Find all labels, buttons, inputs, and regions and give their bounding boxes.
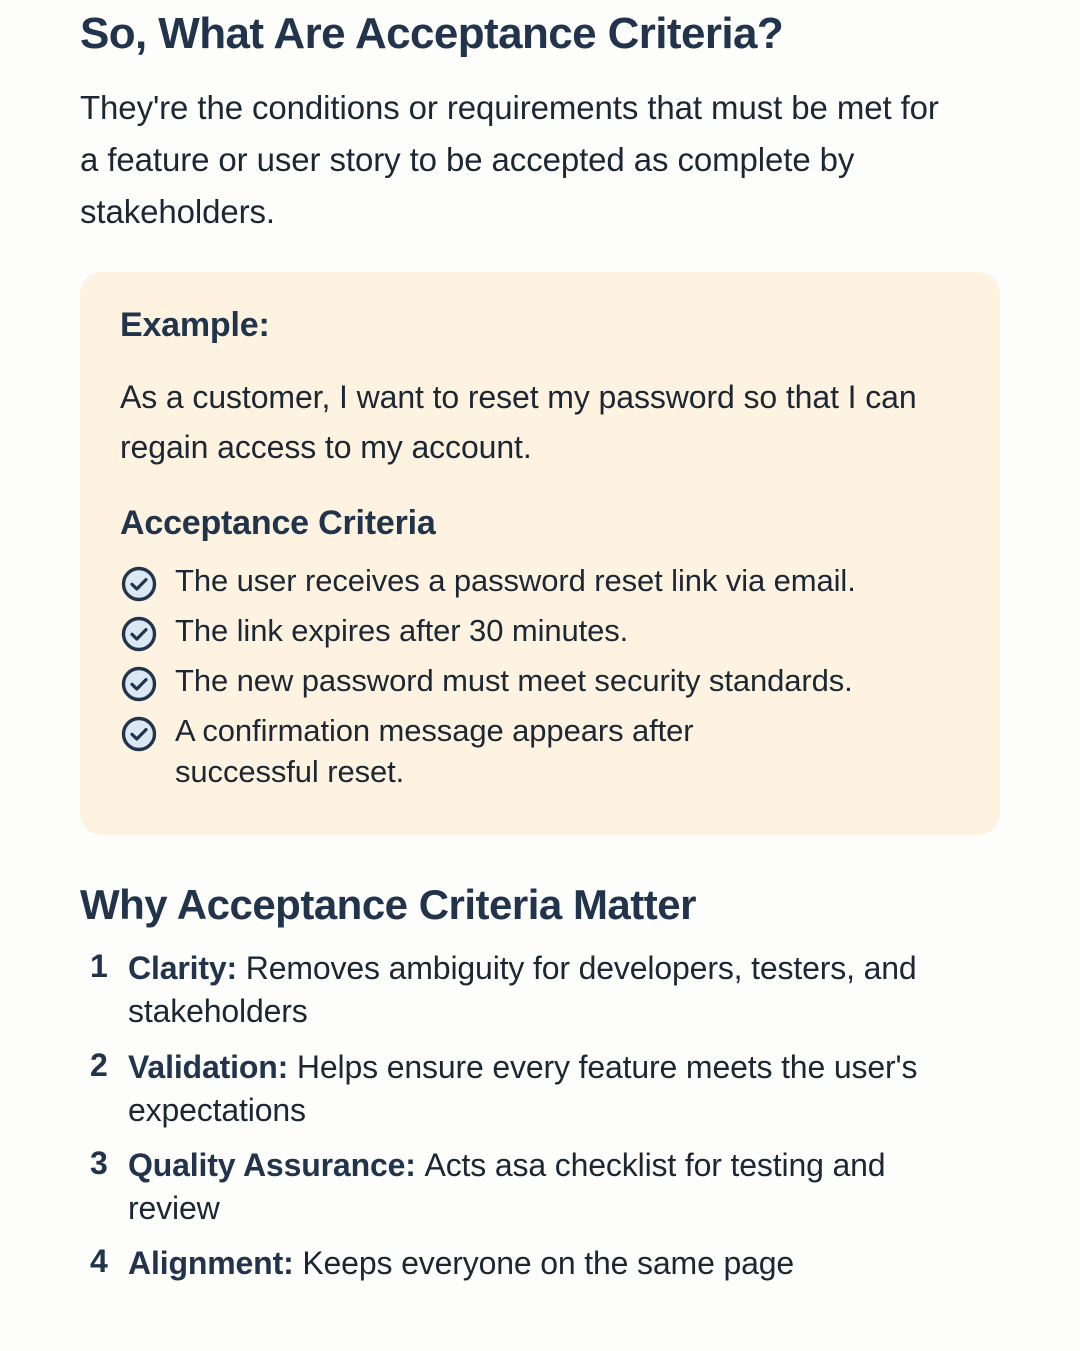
- reason-number: 1: [80, 947, 128, 985]
- reason-text: Alignment: Keeps everyone on the same pa…: [128, 1242, 794, 1285]
- criteria-item-label: The user receives a password reset link …: [175, 559, 856, 602]
- reasons-list: 1 Clarity: Removes ambiguity for develop…: [80, 947, 1000, 1285]
- criteria-item: The link expires after 30 minutes.: [120, 609, 960, 653]
- reason-term: Validation:: [128, 1049, 297, 1085]
- reason-number: 2: [80, 1046, 128, 1084]
- check-circle-icon: [120, 665, 158, 703]
- criteria-item: The user receives a password reset link …: [120, 559, 960, 603]
- reason-term: Clarity:: [128, 950, 246, 986]
- reason-number: 3: [80, 1144, 128, 1182]
- reason-text: Quality Assurance: Acts asa checklist fo…: [128, 1144, 958, 1230]
- reason-text: Validation: Helps ensure every feature m…: [128, 1046, 958, 1132]
- reason-item: 3 Quality Assurance: Acts asa checklist …: [80, 1144, 1000, 1230]
- page-title: So, What Are Acceptance Criteria?: [80, 0, 1000, 60]
- check-circle-icon: [120, 565, 158, 603]
- reason-text: Clarity: Removes ambiguity for developer…: [128, 947, 958, 1033]
- criteria-item-label: A confirmation message appears after suc…: [175, 709, 825, 793]
- user-story-text: As a customer, I want to reset my passwo…: [120, 373, 960, 472]
- criteria-item-label: The new password must meet security stan…: [175, 659, 853, 702]
- check-circle-icon: [120, 615, 158, 653]
- example-card: Example: As a customer, I want to reset …: [80, 272, 1000, 835]
- acceptance-criteria-heading: Acceptance Criteria: [120, 504, 960, 543]
- reason-description: Keeps everyone on the same page: [302, 1245, 794, 1281]
- reason-number: 4: [80, 1242, 128, 1280]
- reason-term: Quality Assurance:: [128, 1147, 425, 1183]
- criteria-item: The new password must meet security stan…: [120, 659, 960, 703]
- reason-term: Alignment:: [128, 1245, 302, 1281]
- reason-description: Removes ambiguity for developers, tester…: [128, 950, 917, 1029]
- why-section-title: Why Acceptance Criteria Matter: [80, 881, 1000, 929]
- reason-item: 4 Alignment: Keeps everyone on the same …: [80, 1242, 1000, 1285]
- check-circle-icon: [120, 715, 158, 753]
- reason-item: 1 Clarity: Removes ambiguity for develop…: [80, 947, 1000, 1033]
- infographic-page: So, What Are Acceptance Criteria? They'r…: [0, 0, 1080, 1351]
- reason-item: 2 Validation: Helps ensure every feature…: [80, 1046, 1000, 1132]
- intro-paragraph: They're the conditions or requirements t…: [80, 82, 960, 238]
- example-label: Example:: [120, 306, 960, 345]
- criteria-item: A confirmation message appears after suc…: [120, 709, 960, 793]
- criteria-item-label: The link expires after 30 minutes.: [175, 609, 628, 652]
- acceptance-criteria-list: The user receives a password reset link …: [120, 559, 960, 793]
